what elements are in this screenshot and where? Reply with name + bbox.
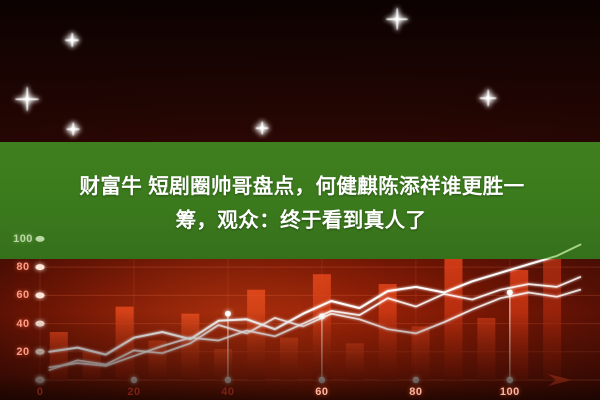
title-line-1: 财富牛 短剧圈帅哥盘点，何健麒陈添祥谁更胜一 [76,169,525,199]
page-title: 财富牛 短剧圈帅哥盘点，何健麒陈添祥谁更胜一 筹，观众：终于看到真人了 [0,142,600,259]
chart-screenshot: 财富牛 短剧圈帅哥盘点，何健麒陈添祥谁更胜一 筹，观众：终于看到真人了 2040… [0,0,600,400]
title-line-2: 筹，观众：终于看到真人了 [174,203,427,233]
